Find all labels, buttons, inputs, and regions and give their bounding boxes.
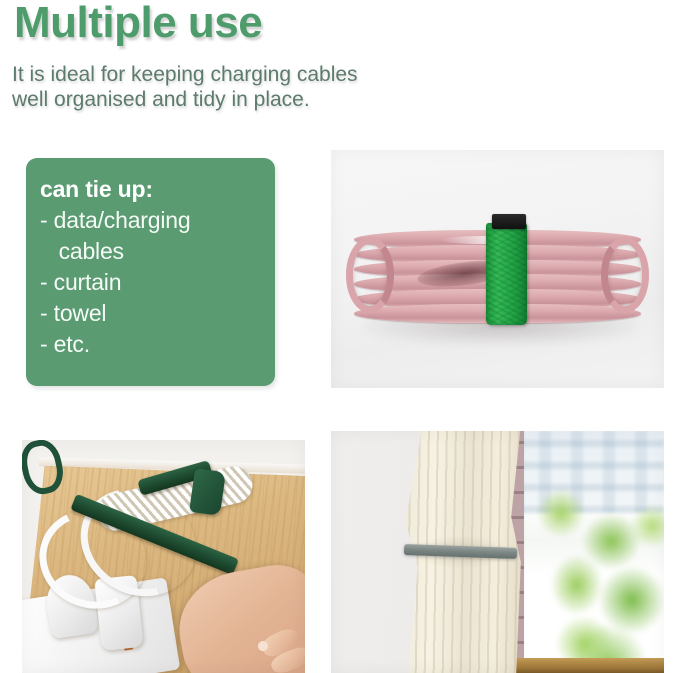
- cable-loop-right: [601, 237, 650, 313]
- can-tie-up-card: can tie up: - data/charging cables - cur…: [26, 158, 275, 386]
- card-title: can tie up:: [40, 174, 261, 204]
- card-list: - data/charging cables - curtain - towel…: [40, 205, 261, 360]
- list-item: cables: [40, 236, 261, 267]
- infographic-page: Multiple use It is ideal for keeping cha…: [0, 0, 679, 673]
- photo-desk-cables: [22, 440, 305, 673]
- photo-cable-coil: [331, 150, 664, 388]
- strap-black-tip: [492, 214, 527, 229]
- foliage: [514, 465, 664, 673]
- list-item: - curtain: [40, 267, 261, 298]
- page-subtitle: It is ideal for keeping charging cables …: [12, 62, 358, 112]
- list-item: - etc.: [40, 329, 261, 360]
- list-item: - towel: [40, 298, 261, 329]
- page-title: Multiple use: [14, 0, 262, 48]
- list-item: - data/charging: [40, 205, 261, 236]
- green-velcro-strap: [486, 223, 528, 325]
- photo-curtain: [331, 431, 664, 673]
